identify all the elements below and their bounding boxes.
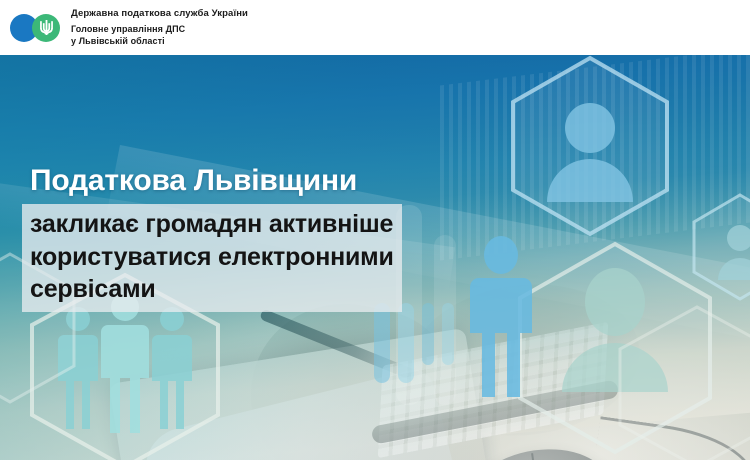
department-name-line2: у Львівській області xyxy=(71,35,248,47)
trident-emblem-icon xyxy=(32,14,60,42)
hero-banner: Податкова Львівщини закликає громадян ак… xyxy=(0,55,750,460)
organization-logo[interactable] xyxy=(6,9,66,47)
headline-line-2: закликає громадян активніше xyxy=(30,208,394,241)
headline-text-panel: закликає громадян активніше користуватис… xyxy=(22,204,402,312)
hero-headline: Податкова Львівщини закликає громадян ак… xyxy=(22,163,492,312)
headline-line-1: Податкова Львівщини xyxy=(22,163,363,198)
organization-name: Державна податкова служба України xyxy=(71,8,248,20)
headline-line-3: користуватися електронними xyxy=(30,241,394,274)
site-header: Державна податкова служба України Головн… xyxy=(0,0,750,55)
headline-line-4: сервісами xyxy=(30,273,394,306)
header-text-block: Державна податкова служба України Головн… xyxy=(71,8,248,47)
department-name-line1: Головне управління ДПС xyxy=(71,23,248,35)
page-root: Державна податкова служба України Головн… xyxy=(0,0,750,460)
